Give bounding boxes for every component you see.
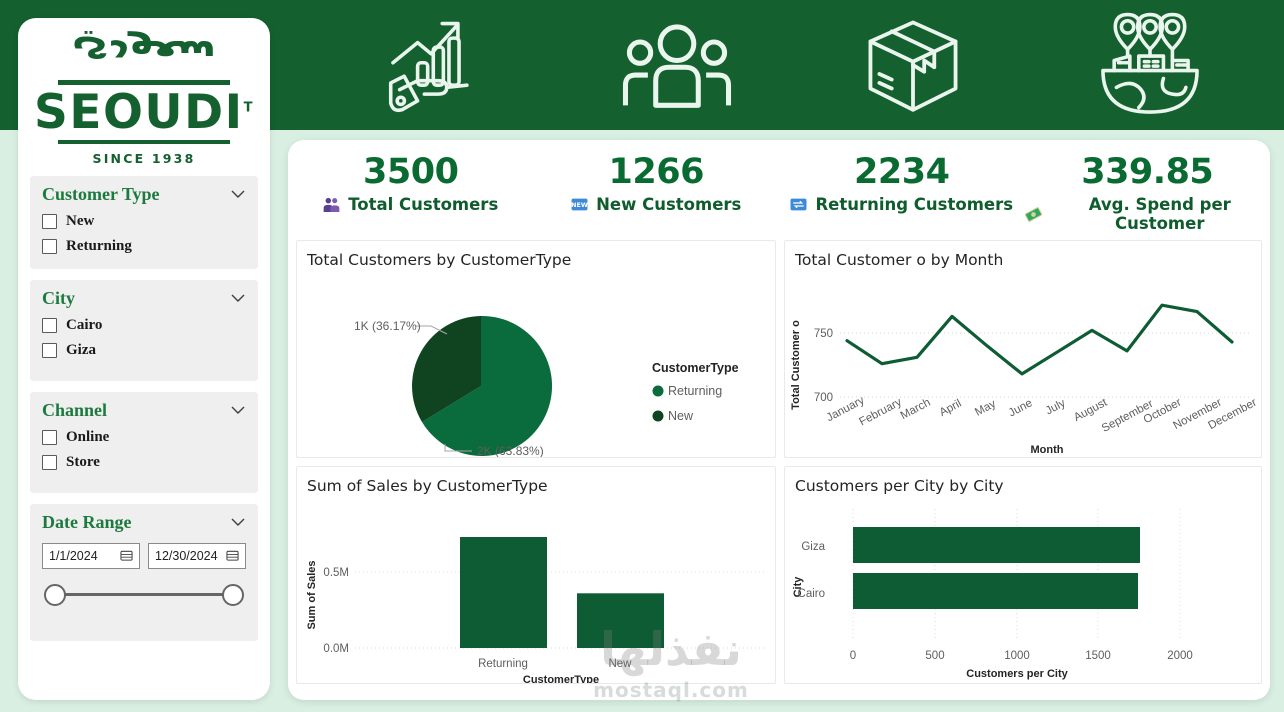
date-end-value: 12/30/2024 <box>155 549 222 563</box>
line-chart-svg[interactable]: Total Customer o 750 700 January Februar… <box>785 269 1262 458</box>
line-xtick-march: March <box>899 397 933 423</box>
chevron-down-icon[interactable] <box>230 293 246 303</box>
package-box-icon <box>853 9 973 121</box>
line-xtick-june: June <box>1007 397 1035 419</box>
hbar-cairo[interactable] <box>853 573 1138 609</box>
slicer-option-new-label: New <box>66 213 94 230</box>
checkbox-online[interactable] <box>42 430 57 445</box>
line-xtick-february: February <box>857 396 903 428</box>
bar-new[interactable] <box>577 593 664 648</box>
hbar-xtick-500: 500 <box>925 650 944 662</box>
slicer-city-title: City <box>42 288 75 309</box>
slicer-channel[interactable]: Channel Online Store <box>30 392 258 493</box>
kpi-card-row: 3500 Total Customers 1266 NEW New Custom… <box>288 140 1270 240</box>
brand-arabic-name: سعودي <box>26 34 262 74</box>
slicer-option-store[interactable]: Store <box>42 454 246 471</box>
pie-label-returning: 2K (63.83%) <box>477 444 544 458</box>
svg-text:NEW: NEW <box>571 201 588 209</box>
slicer-option-online-label: Online <box>66 429 109 446</box>
brand-trademark: T <box>244 100 254 115</box>
hbar-x-tick-labels: 0 500 1000 1500 2000 <box>850 650 1193 662</box>
legend-swatch-new[interactable] <box>653 411 664 422</box>
slicer-option-store-label: Store <box>66 454 100 471</box>
slicer-customer-type-header[interactable]: Customer Type <box>42 184 246 205</box>
line-series-total-customers[interactable] <box>847 305 1232 374</box>
slicer-customer-type[interactable]: Customer Type New Returning <box>30 176 258 269</box>
hbar-xtick-2000: 2000 <box>1167 650 1193 662</box>
kpi-returning-customers-labelrow: Returning Customers <box>779 195 1025 214</box>
pie-chart-svg[interactable]: 1K (36.17%) 2K (63.83%) CustomerType Ret… <box>297 269 776 458</box>
slider-handle-start[interactable] <box>44 584 66 606</box>
slicer-option-online[interactable]: Online <box>42 429 246 446</box>
line-xtick-august: August <box>1072 396 1110 424</box>
pie-legend-title: CustomerType <box>652 361 739 375</box>
logo-divider-bottom <box>58 140 230 144</box>
date-start-input[interactable]: 1/1/2024 <box>42 543 140 569</box>
money-banknote-icon <box>1025 206 1042 223</box>
kpi-returning-customers-label: Returning Customers <box>815 195 1013 214</box>
visual-bar-sales-by-type[interactable]: Sum of Sales by CustomerType Sum of Sale… <box>296 466 776 684</box>
date-start-value: 1/1/2024 <box>49 549 116 563</box>
slicer-date-range-title: Date Range <box>42 512 131 533</box>
kpi-avg-spend-value: 339.85 <box>1025 152 1271 193</box>
bar-xtick-returning: Returning <box>478 658 528 670</box>
banner-icon-row <box>380 0 1210 130</box>
kpi-card-new-customers[interactable]: 1266 NEW New Customers <box>534 152 780 240</box>
date-range-slider[interactable] <box>42 583 246 607</box>
kpi-returning-customers-value: 2234 <box>779 152 1025 193</box>
brand-name: SEOUDI <box>34 85 244 140</box>
kpi-total-customers-label: Total Customers <box>348 195 498 214</box>
line-ytick-700: 700 <box>814 392 833 404</box>
line-ytick-750: 750 <box>814 328 833 340</box>
brand-tagline: SINCE 1938 <box>26 151 262 166</box>
chevron-down-icon[interactable] <box>230 189 246 199</box>
pie-label-new: 1K (36.17%) <box>354 319 421 333</box>
hbar-chart-svg[interactable]: City Giza Cairo 0 500 1000 <box>785 495 1262 684</box>
visual-pie-customers-by-type[interactable]: Total Customers by CustomerType 1K (36.1… <box>296 240 776 458</box>
visual-grid: Total Customers by CustomerType 1K (36.1… <box>288 240 1270 692</box>
pie-chart-title: Total Customers by CustomerType <box>297 241 775 269</box>
hbar-x-axis-title: Customers per City <box>966 668 1068 680</box>
slicer-date-range[interactable]: Date Range 1/1/2024 12/30/2024 <box>30 504 258 641</box>
slicer-option-giza[interactable]: Giza <box>42 342 246 359</box>
slider-handle-end[interactable] <box>222 584 244 606</box>
slicer-date-range-header[interactable]: Date Range <box>42 512 246 533</box>
date-range-fields: 1/1/2024 12/30/2024 <box>42 543 246 569</box>
slicer-city-header[interactable]: City <box>42 288 246 309</box>
slicer-channel-header[interactable]: Channel <box>42 400 246 421</box>
slicer-option-new[interactable]: New <box>42 213 246 230</box>
checkbox-returning[interactable] <box>42 239 57 254</box>
line-y-axis-title: Total Customer o <box>790 320 802 410</box>
hbar-giza[interactable] <box>853 527 1140 563</box>
kpi-total-customers-value: 3500 <box>288 152 534 193</box>
slicer-option-returning[interactable]: Returning <box>42 238 246 255</box>
calendar-icon[interactable] <box>120 549 133 562</box>
bar-ytick-half-million: 0.5M <box>323 567 349 579</box>
brand-name-wrap: SEOUDIT <box>34 89 254 137</box>
checkbox-giza[interactable] <box>42 343 57 358</box>
bar-y-axis-title: Sum of Sales <box>306 560 318 629</box>
bar-x-axis-title: CustomerType <box>523 674 599 684</box>
kpi-card-total-customers[interactable]: 3500 Total Customers <box>288 152 534 240</box>
bar-xtick-new: New <box>608 658 632 670</box>
busts-in-silhouette-icon <box>323 196 340 213</box>
hbar-xtick-0: 0 <box>850 650 856 662</box>
line-chart-title: Total Customer o by Month <box>785 241 1261 269</box>
hbar-xtick-1500: 1500 <box>1085 650 1111 662</box>
slicer-channel-title: Channel <box>42 400 107 421</box>
kpi-new-customers-label: New Customers <box>596 195 741 214</box>
line-xtick-april: April <box>938 398 964 419</box>
slicer-option-giza-label: Giza <box>66 342 96 359</box>
checkbox-cairo[interactable] <box>42 318 57 333</box>
slicer-city[interactable]: City Cairo Giza <box>30 280 258 381</box>
customers-group-icon <box>617 9 737 121</box>
kpi-avg-spend-labelrow: Avg. Spend per Customer <box>1025 195 1271 233</box>
date-end-input[interactable]: 12/30/2024 <box>148 543 246 569</box>
visual-hbar-customers-per-city[interactable]: Customers per City by City City Giza Cai… <box>784 466 1262 684</box>
growth-chart-hand-icon <box>380 9 500 121</box>
legend-swatch-returning[interactable] <box>653 386 664 397</box>
kpi-new-customers-labelrow: NEW New Customers <box>534 195 780 214</box>
chevron-down-icon[interactable] <box>230 405 246 415</box>
checkbox-store[interactable] <box>42 455 57 470</box>
calendar-icon[interactable] <box>226 549 239 562</box>
repeat-arrows-icon <box>790 196 807 213</box>
slider-track <box>58 593 230 596</box>
slicer-customer-type-title: Customer Type <box>42 184 160 205</box>
slicer-option-cairo-label: Cairo <box>66 317 102 334</box>
slicer-option-cairo[interactable]: Cairo <box>42 317 246 334</box>
legend-label-new: New <box>668 409 694 423</box>
chevron-down-icon[interactable] <box>230 517 246 527</box>
hbar-xtick-1000: 1000 <box>1004 650 1030 662</box>
hbar-chart-title: Customers per City by City <box>785 467 1261 495</box>
bar-returning[interactable] <box>460 537 547 648</box>
line-x-tick-labels: January February March April May June Ju… <box>825 394 1259 435</box>
kpi-card-avg-spend[interactable]: 339.85 Avg. Spend per Customer <box>1025 152 1271 240</box>
line-xtick-may: May <box>973 398 998 419</box>
visual-line-customers-by-month[interactable]: Total Customer o by Month Total Customer… <box>784 240 1262 458</box>
legend-label-returning: Returning <box>668 384 722 398</box>
bar-chart-title: Sum of Sales by CustomerType <box>297 467 775 495</box>
hbar-ytick-cairo: Cairo <box>798 588 825 600</box>
checkbox-new[interactable] <box>42 214 57 229</box>
hbar-ytick-giza: Giza <box>801 541 825 553</box>
brand-logo: سعودي SEOUDIT SINCE 1938 <box>26 28 262 176</box>
filter-sidebar: سعودي SEOUDIT SINCE 1938 Customer Type N… <box>18 18 270 700</box>
bar-chart-svg[interactable]: Sum of Sales 0.5M 0.0M Returning New Cus… <box>297 495 776 684</box>
line-x-axis-title: Month <box>1031 444 1064 456</box>
kpi-avg-spend-label: Avg. Spend per Customer <box>1050 195 1271 233</box>
city-locations-globe-icon <box>1090 9 1210 121</box>
report-canvas: 3500 Total Customers 1266 NEW New Custom… <box>288 140 1270 700</box>
kpi-card-returning-customers[interactable]: 2234 Returning Customers <box>779 152 1025 240</box>
bar-ytick-zero: 0.0M <box>323 643 349 655</box>
new-badge-icon: NEW <box>571 196 588 213</box>
kpi-new-customers-value: 1266 <box>534 152 780 193</box>
kpi-total-customers-labelrow: Total Customers <box>288 195 534 214</box>
slicer-option-returning-label: Returning <box>66 238 132 255</box>
line-xtick-july: July <box>1044 397 1068 417</box>
